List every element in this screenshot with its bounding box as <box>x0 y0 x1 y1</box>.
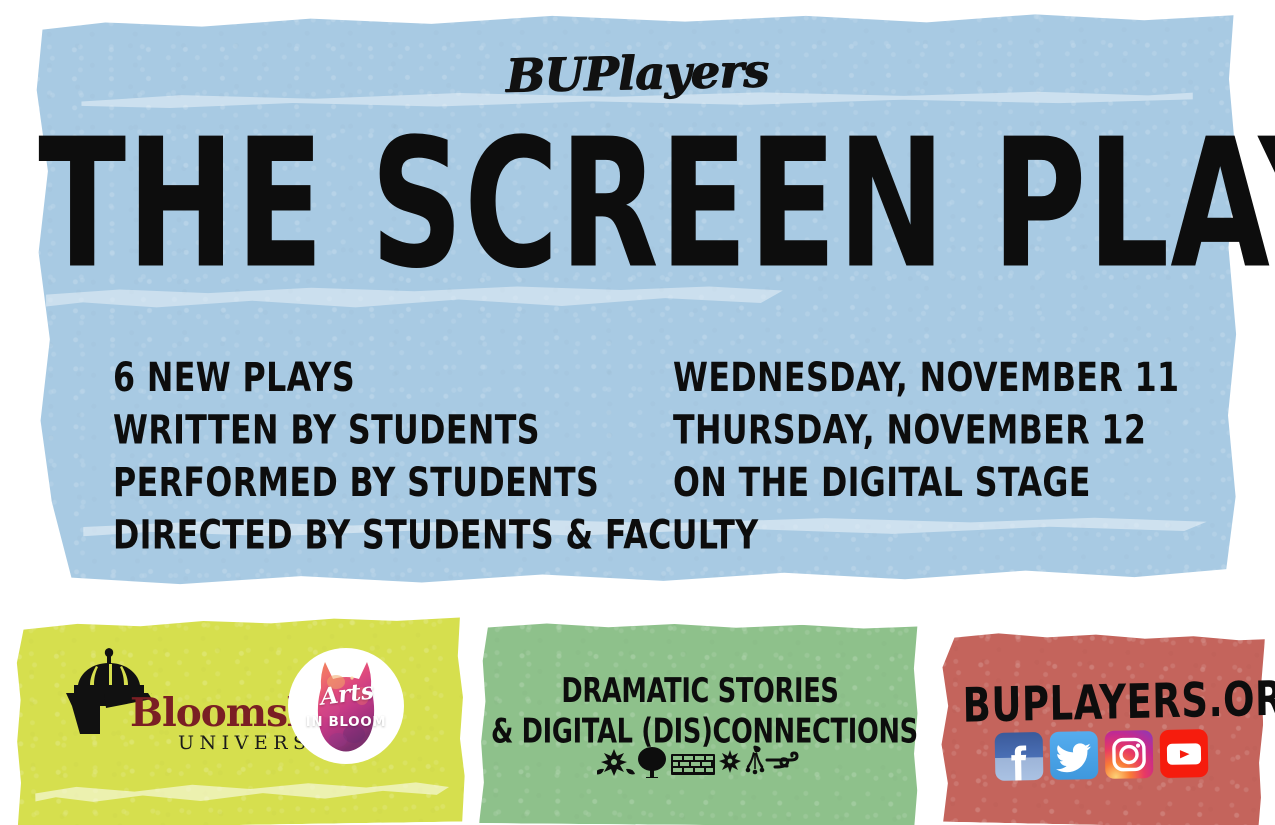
facebook-icon[interactable] <box>995 732 1044 781</box>
production-credits: 6 NEW PLAYS WRITTEN BY STUDENTS PERFORME… <box>113 352 759 561</box>
credit-line: PERFORMED BY STUDENTS <box>113 457 759 509</box>
husky-head-icon <box>288 648 404 764</box>
credit-line: DIRECTED BY STUDENTS & FACULTY <box>113 509 759 561</box>
tagline-line: DRAMATIC STORIES <box>491 672 909 713</box>
social-links <box>995 729 1209 781</box>
credit-line: 6 NEW PLAYS <box>113 352 759 404</box>
theme-tagline: DRAMATIC STORIES & DIGITAL (DIS)CONNECTI… <box>491 672 909 754</box>
schedule-line: THURSDAY, NOVEMBER 12 <box>673 404 1179 456</box>
schedule-line: WEDNESDAY, NOVEMBER 11 <box>673 352 1179 404</box>
twitter-icon[interactable] <box>1050 731 1099 780</box>
instagram-icon[interactable] <box>1105 730 1154 779</box>
garden-ornaments-row <box>480 744 920 782</box>
garden-ornament-icons <box>597 744 803 778</box>
website-url[interactable]: BUPLAYERS.ORG <box>962 673 1240 734</box>
event-schedule: WEDNESDAY, NOVEMBER 11 THURSDAY, NOVEMBE… <box>673 352 1179 509</box>
youtube-icon[interactable] <box>1160 729 1209 778</box>
bloomsburg-university-logo: Bloomsburg UNIVERSITY <box>58 646 274 754</box>
arts-in-bloom-badge: Arts IN BLOOM <box>288 648 404 764</box>
page-title: THE SCREEN PLAYS <box>38 116 1237 294</box>
poster-canvas: BUPlayers THE SCREEN PLAYS 6 NEW PLAYS W… <box>0 0 1275 825</box>
schedule-line: ON THE DIGITAL STAGE <box>673 457 1179 509</box>
credit-line: WRITTEN BY STUDENTS <box>113 404 759 456</box>
